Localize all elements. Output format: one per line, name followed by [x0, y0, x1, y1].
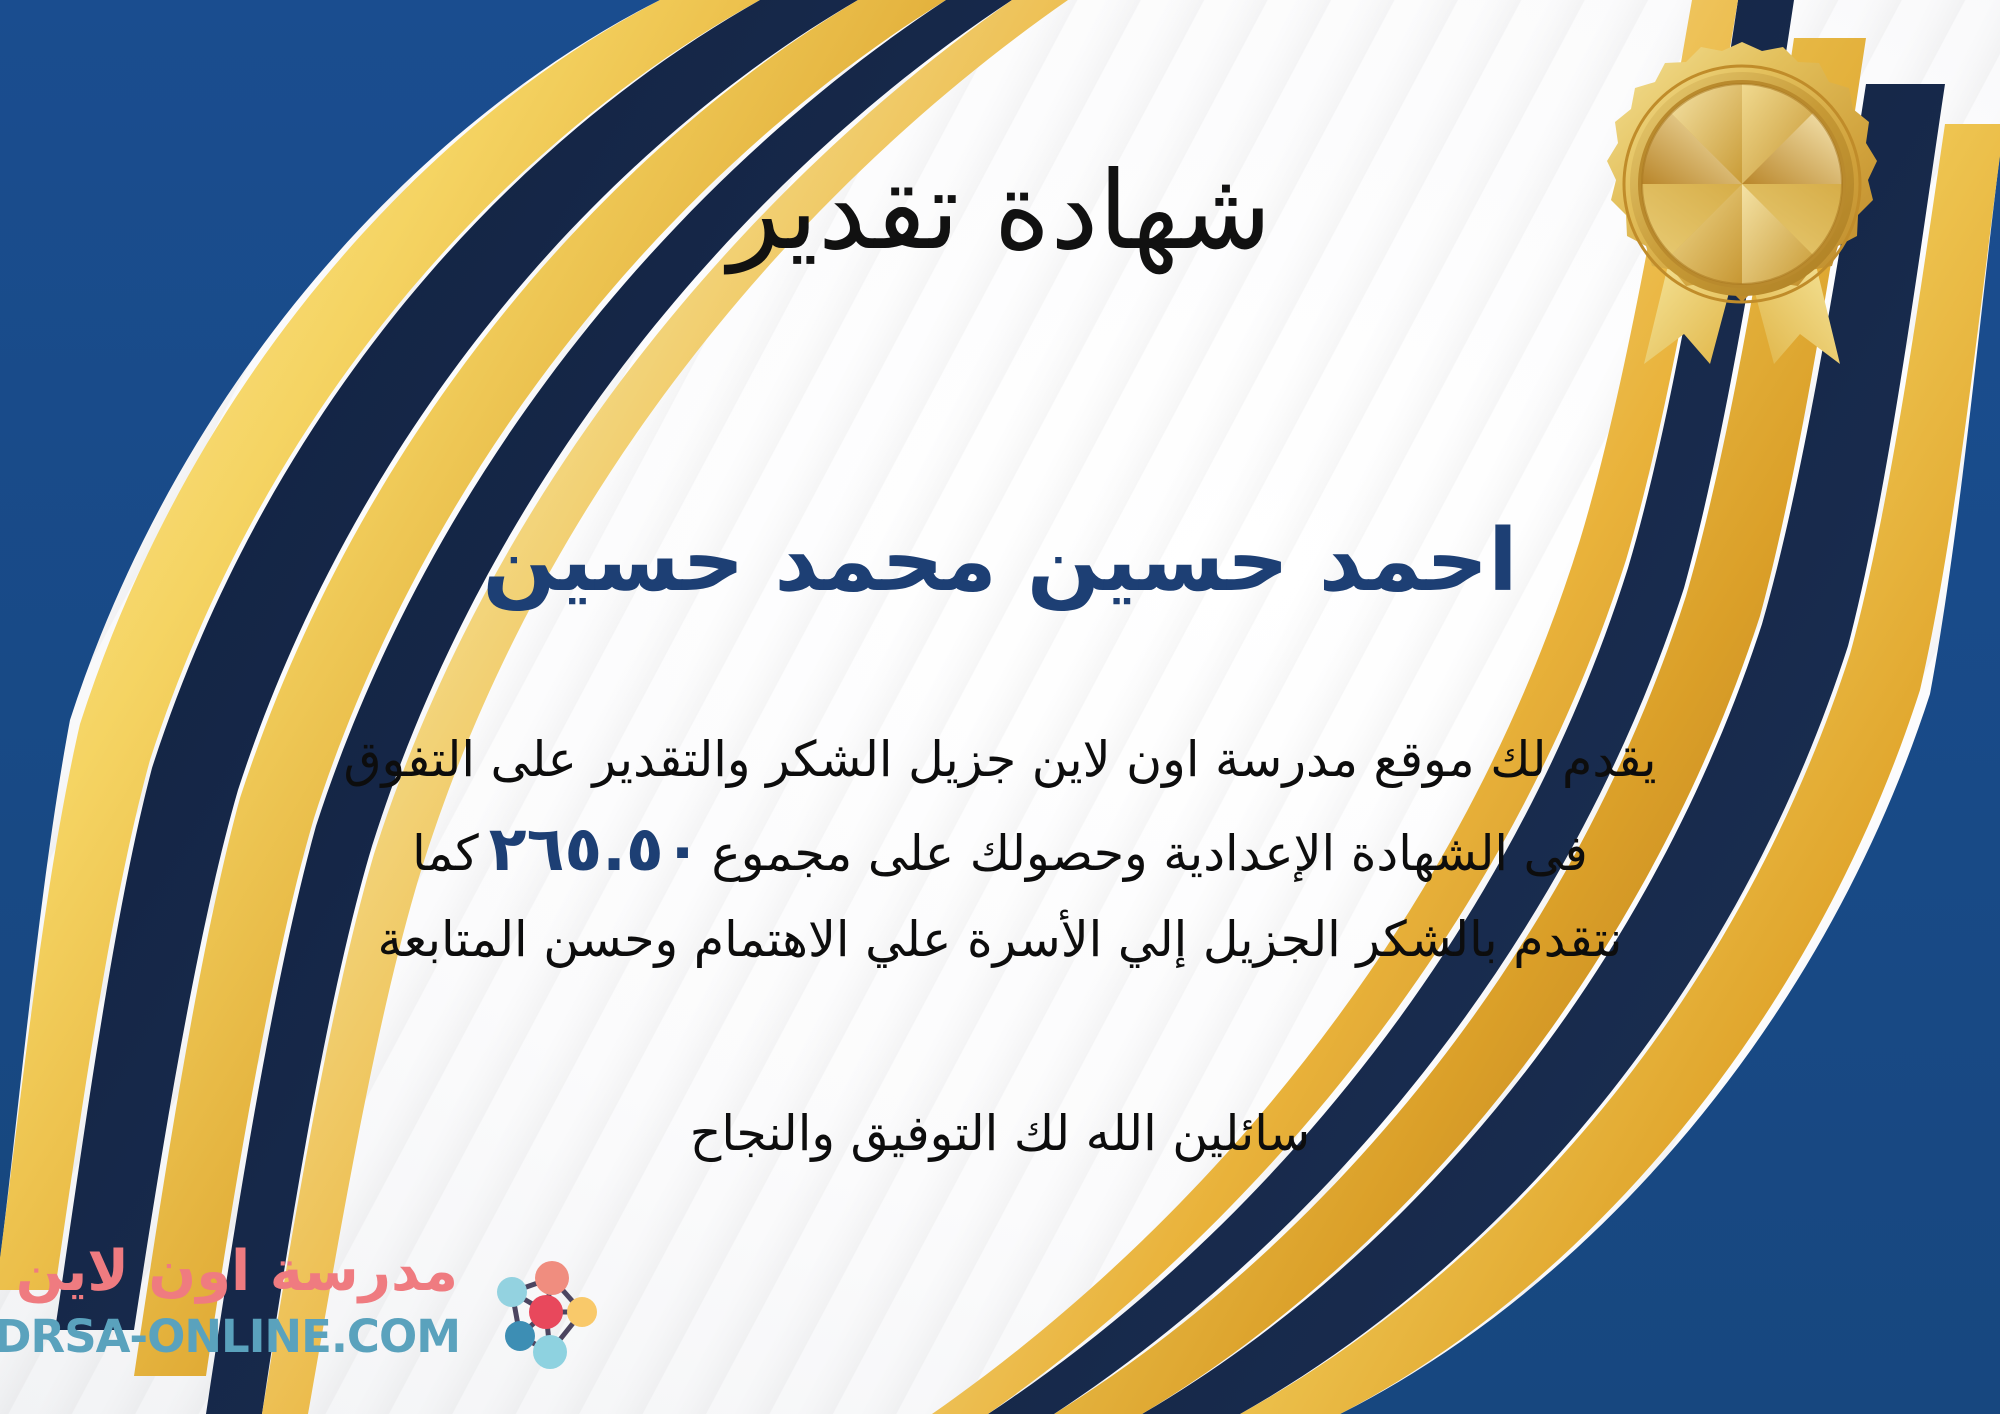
network-nodes-icon: [482, 1252, 610, 1380]
body-line-2-suffix: كما: [412, 825, 479, 882]
student-name: احمد حسين محمد حسين: [0, 508, 2000, 616]
brand-name-arabic: مدرسة اون لاين: [16, 1244, 458, 1300]
brand-website: MADRSA-ONLINE.COM: [0, 1314, 460, 1359]
certificate-content: شهادة تقدير احمد حسين محمد حسين يقدم لك …: [0, 0, 2000, 1414]
closing-wish: سائلين الله لك التوفيق والنجاح: [0, 1105, 2000, 1162]
brand-logo[interactable]: مدرسة اون لاين MADRSA-ONLINE.COM: [28, 1244, 588, 1394]
body-line-2-prefix: فى الشهادة الإعدادية وحصولك على مجموع: [712, 825, 1588, 882]
certificate-page: شهادة تقدير احمد حسين محمد حسين يقدم لك …: [0, 0, 2000, 1414]
body-line-2: فى الشهادة الإعدادية وحصولك على مجموع٢٦٥…: [120, 799, 1880, 899]
body-line-1: يقدم لك موقع مدرسة اون لاين جزيل الشكر و…: [120, 720, 1880, 799]
body-line-3: نتقدم بالشكر الجزيل إلي الأسرة علي الاهت…: [120, 900, 1880, 979]
score-value: ٢٦٥.٥٠: [479, 812, 712, 885]
page-title: شهادة تقدير: [0, 150, 2000, 274]
certificate-body: يقدم لك موقع مدرسة اون لاين جزيل الشكر و…: [120, 720, 1880, 979]
